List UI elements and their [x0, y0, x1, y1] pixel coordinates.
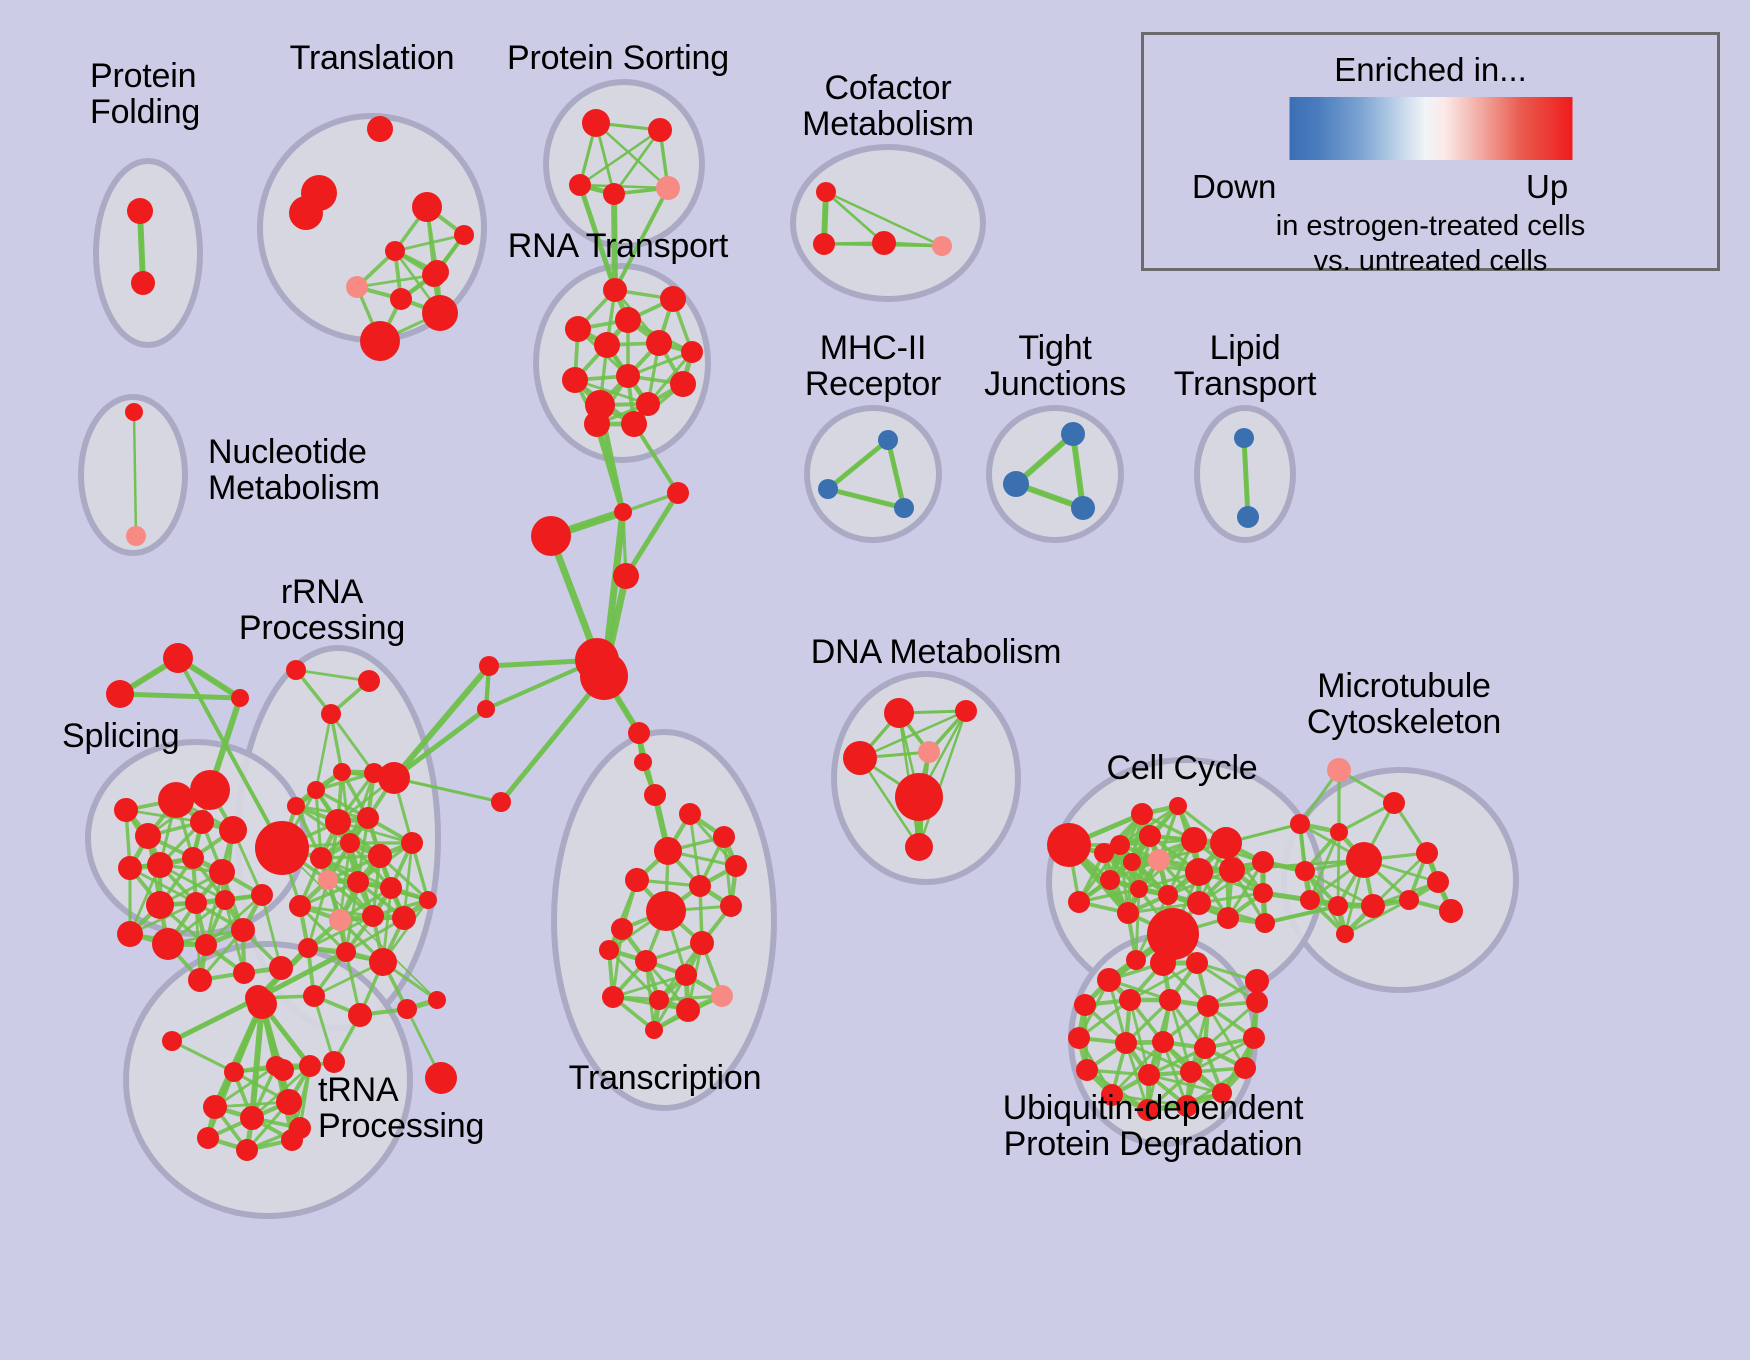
- gene-set-node[interactable]: [1158, 885, 1178, 905]
- gene-set-node[interactable]: [1068, 1027, 1090, 1049]
- gene-set-node[interactable]: [648, 118, 672, 142]
- gene-set-node[interactable]: [224, 1062, 244, 1082]
- gene-set-node[interactable]: [152, 928, 184, 960]
- gene-set-node[interactable]: [219, 816, 247, 844]
- gene-set-node[interactable]: [347, 871, 369, 893]
- gene-set-node[interactable]: [190, 810, 214, 834]
- legend-low-label: Down: [1192, 168, 1276, 206]
- gene-set-node[interactable]: [1115, 1032, 1137, 1054]
- gene-set-node[interactable]: [1068, 891, 1090, 913]
- gene-set-node[interactable]: [1217, 907, 1239, 929]
- gene-set-node[interactable]: [1119, 989, 1141, 1011]
- gene-set-node[interactable]: [1071, 496, 1095, 520]
- gene-set-node[interactable]: [1094, 843, 1114, 863]
- gene-set-node[interactable]: [531, 516, 571, 556]
- gene-set-node[interactable]: [613, 563, 639, 589]
- gene-set-node[interactable]: [454, 225, 474, 245]
- gene-set-node[interactable]: [1159, 989, 1181, 1011]
- gene-set-node[interactable]: [1126, 950, 1146, 970]
- gene-set-node[interactable]: [203, 1095, 227, 1119]
- gene-set-node[interactable]: [646, 330, 672, 356]
- gene-set-node[interactable]: [289, 196, 323, 230]
- gene-set-node[interactable]: [676, 998, 700, 1022]
- gene-set-node[interactable]: [298, 938, 318, 958]
- gene-set-node[interactable]: [477, 700, 495, 718]
- gene-set-node[interactable]: [236, 1139, 258, 1161]
- gene-set-node[interactable]: [422, 263, 446, 287]
- gene-set-node[interactable]: [479, 656, 499, 676]
- gene-set-node[interactable]: [215, 890, 235, 910]
- gene-set-node[interactable]: [118, 856, 142, 880]
- cluster-hull: [546, 82, 702, 246]
- gene-set-node[interactable]: [713, 826, 735, 848]
- gene-set-node[interactable]: [190, 770, 230, 810]
- gene-set-node[interactable]: [231, 918, 255, 942]
- gene-set-node[interactable]: [1123, 853, 1141, 871]
- cluster-label-dna-metabolism: DNA Metabolism: [811, 634, 1061, 670]
- gene-set-node[interactable]: [635, 950, 657, 972]
- gene-set-node[interactable]: [628, 722, 650, 744]
- gene-set-node[interactable]: [1210, 827, 1242, 859]
- gene-set-node[interactable]: [397, 999, 417, 1019]
- gene-set-node[interactable]: [649, 990, 669, 1010]
- gene-set-node[interactable]: [955, 700, 977, 722]
- gene-set-node[interactable]: [725, 855, 747, 877]
- gene-set-node[interactable]: [616, 364, 640, 388]
- gene-set-node[interactable]: [614, 503, 632, 521]
- gene-set-node[interactable]: [720, 895, 742, 917]
- gene-set-node[interactable]: [1181, 827, 1207, 853]
- gene-set-node[interactable]: [1169, 797, 1187, 815]
- gene-set-node[interactable]: [358, 670, 380, 692]
- cluster-label-microtubule-cytoskeleton: MicrotubuleCytoskeleton: [1307, 668, 1501, 740]
- gene-set-node[interactable]: [1328, 896, 1348, 916]
- gene-set-node[interactable]: [233, 962, 255, 984]
- cluster-label-ubiquitin-protein-degradation: Ubiquitin-dependentProtein Degradation: [1003, 1090, 1304, 1162]
- cluster-label-rrna-processing: rRNAProcessing: [239, 574, 405, 646]
- gene-set-node[interactable]: [1336, 925, 1354, 943]
- gene-set-node[interactable]: [106, 680, 134, 708]
- cluster-label-trna-processing: tRNAProcessing: [318, 1072, 484, 1144]
- gene-set-node[interactable]: [1416, 842, 1438, 864]
- gene-set-node[interactable]: [362, 905, 384, 927]
- legend-color-gradient-bar: [1289, 97, 1572, 160]
- gene-set-node[interactable]: [323, 1051, 345, 1073]
- gene-set-node[interactable]: [318, 870, 338, 890]
- gene-set-node[interactable]: [1246, 991, 1268, 1013]
- gene-set-node[interactable]: [1327, 758, 1351, 782]
- gene-set-node[interactable]: [1300, 890, 1320, 910]
- gene-set-node[interactable]: [1295, 861, 1315, 881]
- gene-set-node[interactable]: [412, 192, 442, 222]
- cluster-label-nucleotide-metabolism: NucleotideMetabolism: [208, 434, 380, 506]
- enrichment-map-figure: ProteinFolding Translation Protein Sorti…: [0, 0, 1750, 1360]
- gene-set-node[interactable]: [584, 411, 610, 437]
- cluster-label-cofactor-metabolism: CofactorMetabolism: [802, 70, 974, 142]
- gene-set-node[interactable]: [1234, 1057, 1256, 1079]
- gene-set-node[interactable]: [419, 891, 437, 909]
- gene-set-node[interactable]: [380, 877, 402, 899]
- cluster-label-cell-cycle: Cell Cycle: [1106, 750, 1257, 786]
- legend-title: Enriched in...: [1144, 51, 1717, 89]
- gene-set-node[interactable]: [646, 891, 686, 931]
- edge: [626, 493, 678, 576]
- gene-set-node[interactable]: [231, 689, 249, 707]
- gene-set-node[interactable]: [158, 782, 194, 818]
- gene-set-node[interactable]: [286, 660, 306, 680]
- gene-set-node[interactable]: [329, 909, 351, 931]
- gene-set-node[interactable]: [182, 847, 204, 869]
- gene-set-node[interactable]: [711, 985, 733, 1007]
- gene-set-node[interactable]: [197, 1127, 219, 1149]
- gene-set-node[interactable]: [287, 797, 305, 815]
- gene-set-node[interactable]: [1399, 890, 1419, 910]
- gene-set-node[interactable]: [428, 991, 446, 1009]
- gene-set-node[interactable]: [255, 821, 309, 875]
- gene-set-node[interactable]: [654, 837, 682, 865]
- legend-subtitle-line-1: in estrogen-treated cells: [1144, 210, 1717, 243]
- gene-set-node[interactable]: [385, 241, 405, 261]
- legend-box: Enriched in... Down Up in estrogen-treat…: [1141, 32, 1720, 271]
- gene-set-node[interactable]: [307, 781, 325, 799]
- gene-set-node[interactable]: [634, 753, 652, 771]
- gene-set-node[interactable]: [378, 762, 410, 794]
- gene-set-node[interactable]: [895, 773, 943, 821]
- gene-set-node[interactable]: [163, 643, 193, 673]
- gene-set-node[interactable]: [1139, 825, 1161, 847]
- gene-set-node[interactable]: [390, 288, 412, 310]
- gene-set-node[interactable]: [1383, 792, 1405, 814]
- gene-set-node[interactable]: [251, 884, 273, 906]
- cluster-label-mhc-ii-receptor: MHC-IIReceptor: [805, 330, 941, 402]
- gene-set-node[interactable]: [146, 891, 174, 919]
- gene-set-node[interactable]: [1152, 1031, 1174, 1053]
- gene-set-node[interactable]: [1061, 422, 1085, 446]
- gene-set-node[interactable]: [565, 316, 591, 342]
- gene-set-node[interactable]: [645, 1021, 663, 1039]
- gene-set-node[interactable]: [1197, 995, 1219, 1017]
- gene-set-node[interactable]: [336, 942, 356, 962]
- cluster-label-tight-junctions: TightJunctions: [984, 330, 1126, 402]
- gene-set-node[interactable]: [690, 931, 714, 955]
- cluster-label-rna-transport: RNA Transport: [508, 228, 728, 264]
- gene-set-node[interactable]: [602, 986, 624, 1008]
- cluster-label-protein-folding: ProteinFolding: [90, 58, 200, 130]
- gene-set-node[interactable]: [1047, 823, 1091, 867]
- legend-subtitle-line-2: vs. untreated cells: [1144, 245, 1717, 278]
- gene-set-node[interactable]: [594, 332, 620, 358]
- gene-set-node[interactable]: [1361, 894, 1385, 918]
- gene-set-node[interactable]: [1439, 899, 1463, 923]
- gene-set-node[interactable]: [1243, 1027, 1265, 1049]
- gene-set-node[interactable]: [689, 875, 711, 897]
- gene-set-node[interactable]: [580, 652, 628, 700]
- gene-set-node[interactable]: [1117, 902, 1139, 924]
- gene-set-node[interactable]: [1346, 842, 1382, 878]
- gene-set-node[interactable]: [276, 1089, 302, 1115]
- gene-set-node[interactable]: [368, 844, 392, 868]
- gene-set-node[interactable]: [266, 1056, 286, 1076]
- gene-set-node[interactable]: [325, 809, 351, 835]
- gene-set-node[interactable]: [127, 198, 153, 224]
- cluster-hull: [96, 161, 200, 345]
- gene-set-node[interactable]: [1234, 428, 1254, 448]
- cluster-label-lipid-transport: LipidTransport: [1174, 330, 1316, 402]
- gene-set-node[interactable]: [884, 698, 914, 728]
- gene-set-node[interactable]: [1330, 823, 1348, 841]
- gene-set-node[interactable]: [582, 109, 610, 137]
- gene-set-node[interactable]: [603, 278, 627, 302]
- gene-set-node[interactable]: [367, 116, 393, 142]
- gene-set-node[interactable]: [1150, 950, 1176, 976]
- cluster-label-protein-sorting: Protein Sorting: [507, 40, 729, 76]
- gene-set-node[interactable]: [681, 341, 703, 363]
- gene-set-node[interactable]: [147, 852, 173, 878]
- gene-set-node[interactable]: [816, 182, 836, 202]
- gene-set-node[interactable]: [1186, 952, 1208, 974]
- gene-set-node[interactable]: [894, 498, 914, 518]
- gene-set-node[interactable]: [644, 784, 666, 806]
- gene-set-node[interactable]: [1147, 908, 1199, 960]
- gene-set-node[interactable]: [599, 940, 619, 960]
- gene-set-node[interactable]: [1237, 506, 1259, 528]
- gene-set-node[interactable]: [340, 833, 360, 853]
- gene-set-node[interactable]: [1148, 849, 1170, 871]
- gene-set-node[interactable]: [360, 321, 400, 361]
- gene-set-node[interactable]: [1003, 471, 1029, 497]
- gene-set-node[interactable]: [1245, 969, 1269, 993]
- gene-set-node[interactable]: [1100, 870, 1120, 890]
- edge: [1338, 832, 1339, 906]
- gene-set-node[interactable]: [185, 892, 207, 914]
- gene-set-node[interactable]: [209, 859, 235, 885]
- gene-set-node[interactable]: [818, 479, 838, 499]
- gene-set-node[interactable]: [357, 807, 379, 829]
- gene-set-node[interactable]: [491, 792, 511, 812]
- legend-high-label: Up: [1526, 168, 1568, 206]
- gene-set-node[interactable]: [269, 956, 293, 980]
- gene-set-node[interactable]: [422, 295, 458, 331]
- gene-set-node[interactable]: [162, 1031, 182, 1051]
- gene-set-node[interactable]: [872, 231, 896, 255]
- gene-set-node[interactable]: [813, 233, 835, 255]
- gene-set-node[interactable]: [1138, 1064, 1160, 1086]
- gene-set-node[interactable]: [932, 236, 952, 256]
- gene-set-node[interactable]: [625, 868, 649, 892]
- gene-set-node[interactable]: [670, 371, 696, 397]
- gene-set-node[interactable]: [1252, 851, 1274, 873]
- gene-set-node[interactable]: [114, 798, 138, 822]
- gene-set-node[interactable]: [135, 823, 161, 849]
- gene-set-node[interactable]: [1097, 968, 1121, 992]
- gene-set-node[interactable]: [240, 1106, 264, 1130]
- gene-set-node[interactable]: [675, 964, 697, 986]
- gene-set-node[interactable]: [310, 847, 332, 869]
- gene-set-node[interactable]: [1194, 1037, 1216, 1059]
- cluster-hull: [807, 408, 939, 540]
- gene-set-node[interactable]: [333, 763, 351, 781]
- gene-set-node[interactable]: [656, 176, 680, 200]
- gene-set-node[interactable]: [369, 948, 397, 976]
- gene-set-node[interactable]: [321, 704, 341, 724]
- gene-set-node[interactable]: [1219, 857, 1245, 883]
- cluster-hull: [793, 147, 983, 299]
- gene-set-node[interactable]: [679, 803, 701, 825]
- gene-set-node[interactable]: [131, 271, 155, 295]
- gene-set-node[interactable]: [1187, 891, 1211, 915]
- gene-set-node[interactable]: [918, 741, 940, 763]
- gene-set-node[interactable]: [905, 833, 933, 861]
- cluster-label-transcription: Transcription: [569, 1060, 762, 1096]
- gene-set-node[interactable]: [1427, 871, 1449, 893]
- gene-set-node[interactable]: [1253, 883, 1273, 903]
- gene-set-node[interactable]: [1290, 814, 1310, 834]
- gene-set-node[interactable]: [401, 832, 423, 854]
- gene-set-node[interactable]: [188, 968, 212, 992]
- cluster-label-translation: Translation: [290, 40, 455, 76]
- gene-set-node[interactable]: [289, 895, 311, 917]
- gene-set-node[interactable]: [1185, 858, 1213, 886]
- gene-set-node[interactable]: [346, 276, 368, 298]
- gene-set-node[interactable]: [117, 921, 143, 947]
- gene-set-node[interactable]: [569, 174, 591, 196]
- gene-set-node[interactable]: [1130, 880, 1148, 898]
- edge: [120, 694, 240, 698]
- gene-set-node[interactable]: [1076, 1059, 1098, 1081]
- gene-set-node[interactable]: [611, 918, 633, 940]
- gene-set-node[interactable]: [195, 934, 217, 956]
- gene-set-node[interactable]: [660, 286, 686, 312]
- gene-set-node[interactable]: [562, 367, 588, 393]
- gene-set-node[interactable]: [603, 183, 625, 205]
- gene-set-node[interactable]: [125, 403, 143, 421]
- gene-set-node[interactable]: [247, 989, 277, 1019]
- gene-set-node[interactable]: [615, 307, 641, 333]
- gene-set-node[interactable]: [126, 526, 146, 546]
- gene-set-node[interactable]: [843, 741, 877, 775]
- gene-set-node[interactable]: [621, 411, 647, 437]
- cluster-label-splicing: Splicing: [62, 718, 179, 754]
- gene-set-node[interactable]: [289, 1117, 311, 1139]
- gene-set-node[interactable]: [303, 985, 325, 1007]
- gene-set-node[interactable]: [1180, 1061, 1202, 1083]
- gene-set-node[interactable]: [1074, 994, 1096, 1016]
- gene-set-node[interactable]: [1255, 913, 1275, 933]
- gene-set-node[interactable]: [667, 482, 689, 504]
- gene-set-node[interactable]: [348, 1003, 372, 1027]
- gene-set-node[interactable]: [878, 430, 898, 450]
- gene-set-node[interactable]: [392, 906, 416, 930]
- gene-set-node[interactable]: [1131, 803, 1153, 825]
